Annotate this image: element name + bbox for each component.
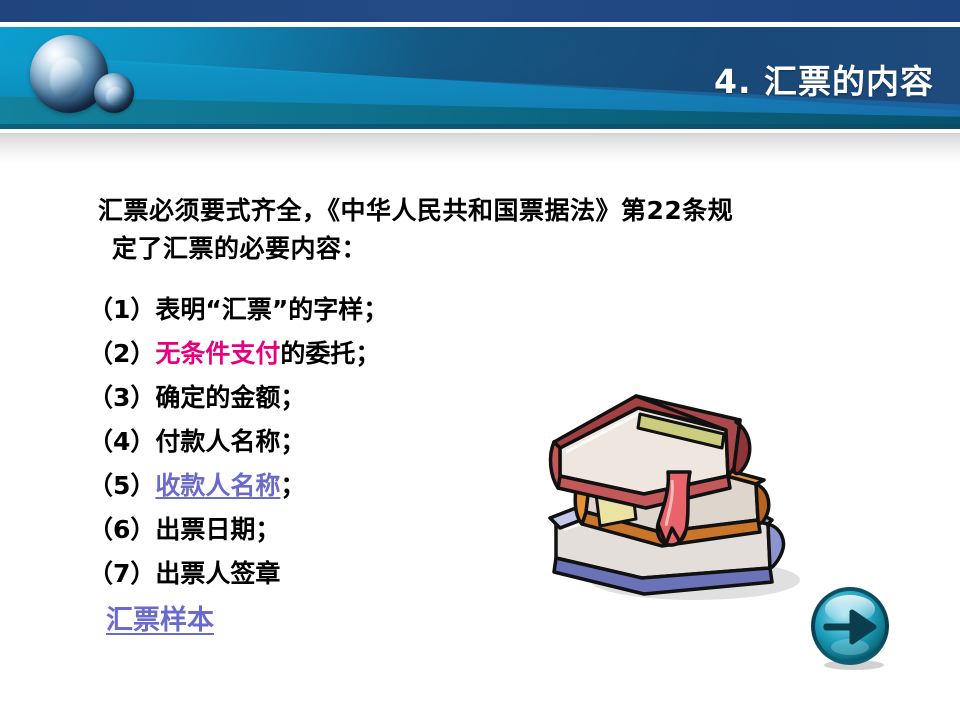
list-item-label: 的委托； (280, 339, 380, 368)
small-sphere-icon (94, 73, 134, 113)
list-item: （2）无条件支付的委托； (88, 334, 518, 378)
list-item-label: 确定的金额； (155, 383, 305, 412)
list-item-highlight: 无条件支付 (155, 339, 280, 368)
list-item-label: 付款人名称； (155, 427, 305, 456)
list-item-label: ； (280, 471, 305, 500)
list-item: （1）表明“汇票”的字样； (88, 290, 518, 334)
intro-line-1: 汇票必须要式齐全，《中华人民共和国票据法》第22条规 (98, 196, 733, 225)
payee-name-hyperlink[interactable]: 收款人名称 (155, 471, 280, 500)
list-item-number: （4） (88, 422, 155, 462)
list-item-number: （6） (88, 510, 155, 550)
list-item-number: （1） (88, 290, 155, 330)
stack-of-books-icon (520, 372, 820, 612)
page-title: 4. 汇票的内容 (714, 55, 934, 103)
list-item-number: （3） (88, 378, 155, 418)
list-item: （3）确定的金额； (88, 378, 518, 422)
list-item-number: （2） (88, 334, 155, 374)
intro-line-2: 定了汇票的必要内容： (98, 230, 888, 268)
intro-paragraph: 汇票必须要式齐全，《中华人民共和国票据法》第22条规 定了汇票的必要内容： (98, 192, 888, 268)
bill-sample-hyperlink[interactable]: 汇票样本 (106, 598, 214, 637)
presentation-slide: 4. 汇票的内容 汇票必须要式齐全，《中华人民共和国票据法》第22条规 定了汇票… (0, 0, 960, 720)
list-item-label: 出票日期； (155, 515, 280, 544)
list-item-label: 表明“汇票”的字样； (155, 295, 388, 324)
sphere-logo-icon (22, 33, 162, 125)
list-item: （7）出票人签章 (88, 554, 518, 598)
list-item: （5）收款人名称； (88, 466, 518, 510)
top-navy-bar (0, 0, 960, 22)
next-slide-button[interactable] (808, 585, 894, 671)
list-item-label: 出票人签章 (155, 559, 280, 588)
requirements-list: （1）表明“汇票”的字样； （2）无条件支付的委托； （3）确定的金额； （4）… (88, 290, 518, 598)
body-gradient-sheen (0, 134, 960, 164)
list-item-number: （5） (88, 466, 155, 506)
list-item: （4）付款人名称； (88, 422, 518, 466)
list-item-number: （7） (88, 554, 155, 594)
list-item: （6）出票日期； (88, 510, 518, 554)
